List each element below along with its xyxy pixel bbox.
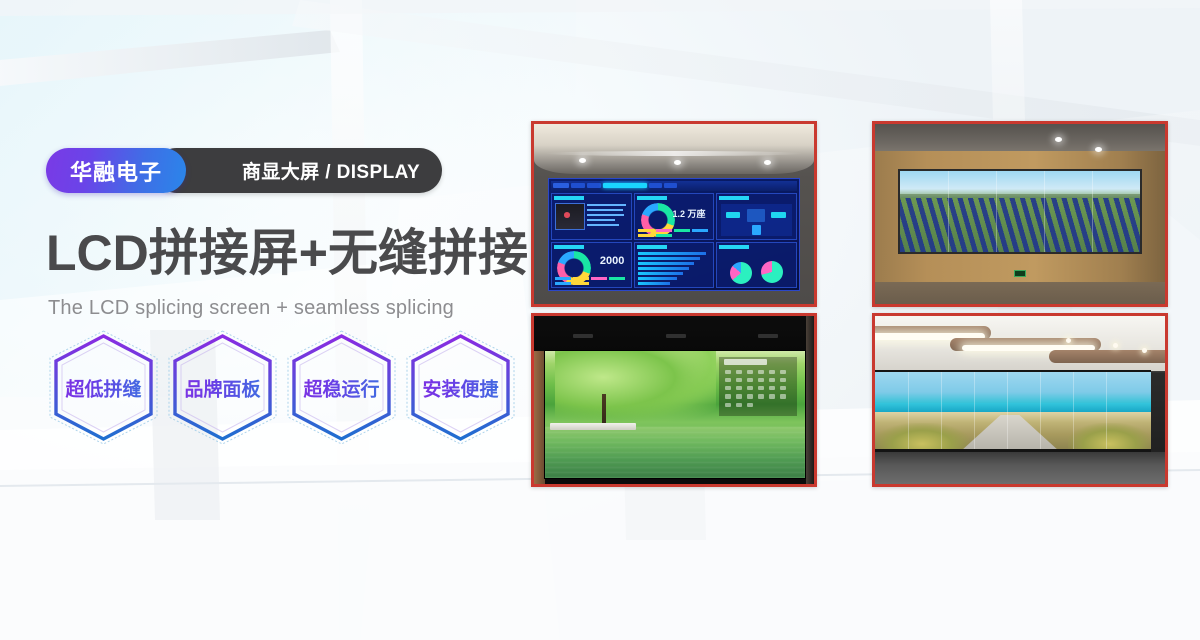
feature-label: 品牌面板	[163, 374, 282, 401]
category-label: 商显大屏 / DISPLAY	[242, 157, 420, 184]
video-wall-screen	[875, 370, 1151, 452]
brand-pill: 华融电子	[46, 148, 186, 193]
gallery-photo-park-scenery-video-wall	[531, 313, 817, 487]
category-pill: 商显大屏 / DISPLAY	[154, 148, 442, 193]
video-wall-screen	[544, 350, 806, 479]
gallery-photo-solar-farm-video-wall	[872, 121, 1168, 307]
gallery-photo-beach-boardwalk-video-wall	[872, 313, 1168, 487]
feature-hexagon: 超低拼缝	[44, 330, 163, 445]
feature-label: 安装便捷	[401, 374, 520, 401]
feature-label: 超低拼缝	[44, 374, 163, 401]
page-subtitle: The LCD splicing screen + seamless splic…	[48, 297, 454, 320]
calendar-overlay	[719, 357, 797, 416]
dashboard-screen: 1.2 万座	[548, 178, 800, 291]
feature-label: 超稳运行	[282, 374, 401, 401]
video-wall-screen	[898, 169, 1142, 254]
gallery-photo-dashboard-video-wall: 1.2 万座	[531, 121, 817, 307]
feature-hexagon: 安装便捷	[401, 330, 520, 445]
brand-name: 华融电子	[70, 155, 162, 187]
feature-list: 超低拼缝 品牌面板 超稳运行 安装便捷	[44, 330, 520, 445]
feature-hexagon: 超稳运行	[282, 330, 401, 445]
page-title: LCD拼接屏+无缝拼接	[46, 228, 528, 278]
banner-content: 商显大屏 / DISPLAY 华融电子 LCD拼接屏+无缝拼接 The LCD …	[46, 0, 516, 640]
feature-hexagon: 品牌面板	[163, 330, 282, 445]
